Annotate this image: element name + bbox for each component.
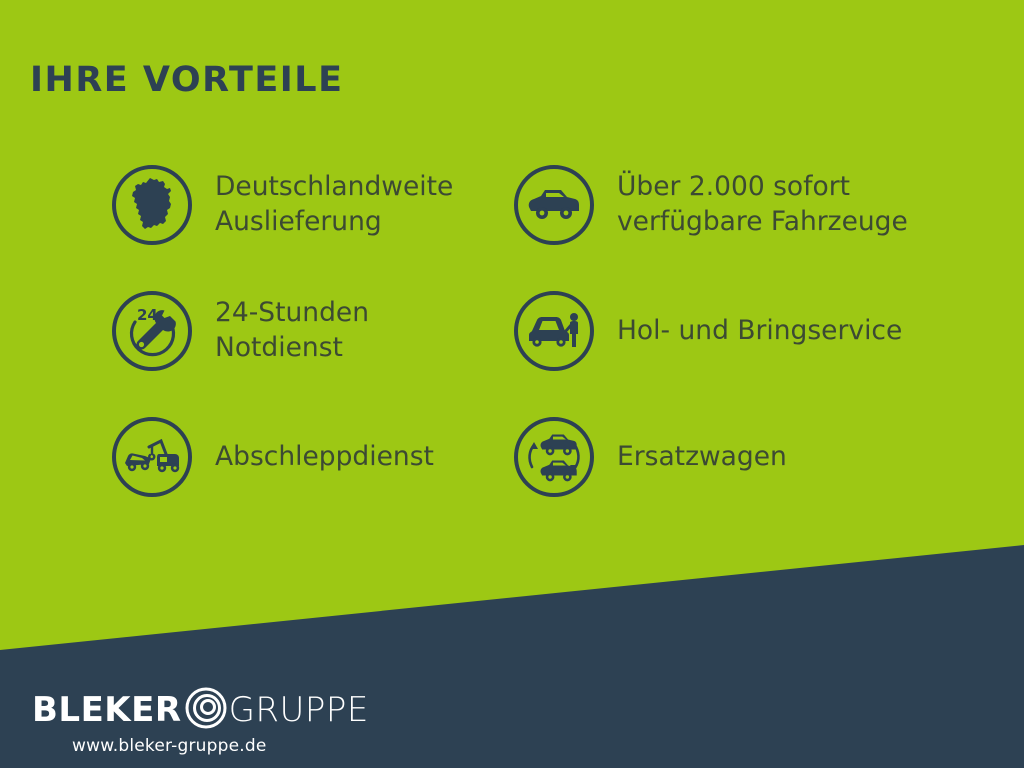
tow-truck-icon: [112, 417, 192, 497]
brand-name-light: GRUPPE: [229, 693, 369, 727]
brand-name-bold: BLEKER: [32, 693, 182, 727]
benefit-item-24-stunden-notdienst[interactable]: 24 24-Stunden Notdienst: [112, 278, 512, 384]
benefits-grid: Deutschlandweite Auslieferung Über 2.000…: [0, 152, 1024, 530]
germany-map-icon: [112, 165, 192, 245]
car-exchange-icon: [514, 417, 594, 497]
brand-logo[interactable]: BLEKER GRUPPE: [32, 688, 452, 732]
benefit-row: 24 24-Stunden Notdienst: [0, 278, 1024, 404]
benefit-label: 24-Stunden Notdienst: [215, 296, 369, 366]
footer-website-url[interactable]: www.bleker-gruppe.de: [72, 736, 452, 756]
benefit-label: Über 2.000 sofort verfügbare Fahrzeuge: [617, 170, 908, 240]
benefit-label: Deutschlandweite Auslieferung: [215, 170, 453, 240]
car-side-icon: [514, 165, 594, 245]
benefit-item-hol-und-bringservice[interactable]: Hol- und Bringservice: [514, 278, 954, 384]
benefit-label: Abschleppdienst: [215, 440, 434, 475]
benefit-label: Ersatzwagen: [617, 440, 787, 475]
benefit-label: Hol- und Bringservice: [617, 314, 902, 349]
benefit-row: Deutschlandweite Auslieferung Über 2.000…: [0, 152, 1024, 278]
bleker-spiral-logo-icon: [184, 686, 228, 734]
benefit-row: Abschleppdienst: [0, 404, 1024, 530]
page-title: IHRE VORTEILE: [30, 63, 343, 98]
benefit-item-verfuegbare-fahrzeuge[interactable]: Über 2.000 sofort verfügbare Fahrzeuge: [514, 152, 954, 258]
car-with-person-icon: [514, 291, 594, 371]
24-hour-wrench-icon: 24: [112, 291, 192, 371]
benefit-item-deutschlandweite-auslieferung[interactable]: Deutschlandweite Auslieferung: [112, 152, 512, 258]
slide-canvas: IHRE VORTEILE Deutschlandweite Ausliefer…: [0, 0, 1024, 768]
benefit-item-abschleppdienst[interactable]: Abschleppdienst: [112, 404, 512, 510]
benefit-item-ersatzwagen[interactable]: Ersatzwagen: [514, 404, 954, 510]
footer: BLEKER GRUPPE www.bleker-gruppe.de: [32, 688, 452, 756]
svg-text:24: 24: [137, 306, 158, 324]
